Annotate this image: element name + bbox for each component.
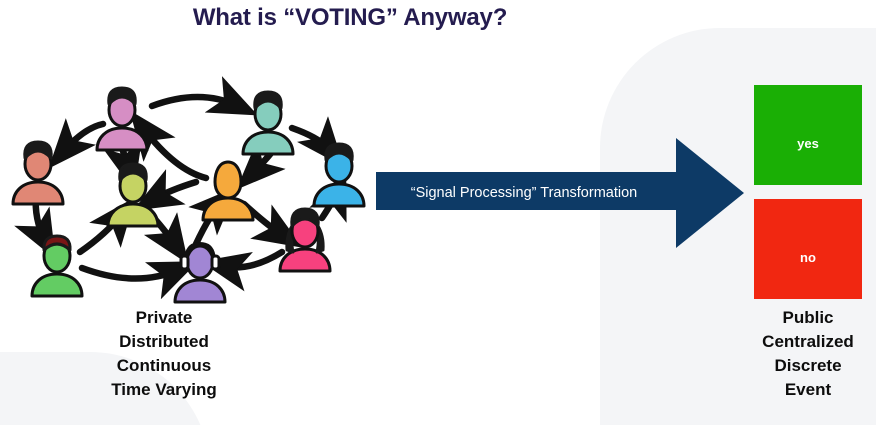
edge-orange-orchid	[143, 128, 206, 178]
transform-arrow: “Signal Processing” Transformation	[374, 136, 746, 250]
page-title: What is “VOTING” Anyway?	[0, 4, 700, 32]
right-caption-line-4: Event	[735, 378, 876, 402]
edge-green-purple	[82, 268, 178, 279]
person-salmon-icon	[13, 142, 63, 204]
result-box-no: no	[754, 199, 862, 299]
left-caption-line-2: Distributed	[55, 330, 273, 354]
left-caption: Private Distributed Continuous Time Vary…	[55, 306, 273, 402]
person-orchid-icon	[97, 88, 147, 150]
person-orange-icon	[203, 162, 253, 220]
person-green-icon	[32, 236, 82, 296]
person-teal-icon	[243, 92, 293, 154]
left-caption-line-4: Time Varying	[55, 378, 273, 402]
result-box-no-label: no	[800, 250, 816, 265]
person-blue-icon	[314, 144, 364, 206]
left-caption-line-3: Continuous	[55, 354, 273, 378]
right-caption-line-2: Centralized	[735, 330, 876, 354]
person-yellowgreen-icon	[108, 164, 158, 226]
right-caption-line-1: Public	[735, 306, 876, 330]
result-box-yes: yes	[754, 85, 862, 185]
result-box-yes-label: yes	[797, 136, 819, 151]
right-caption: Public Centralized Discrete Event	[735, 306, 876, 402]
left-caption-line-1: Private	[55, 306, 273, 330]
edge-orchid-teal	[152, 97, 238, 106]
slide-canvas: What is “VOTING” Anyway?	[0, 0, 876, 425]
social-network-graph	[0, 66, 380, 306]
transform-arrow-shape	[374, 136, 746, 250]
person-purple-icon	[175, 244, 225, 302]
edge-teal-blue	[292, 128, 330, 150]
edge-magenta-purple	[222, 252, 282, 267]
edge-orange-yellowgreen	[152, 182, 196, 200]
right-caption-line-3: Discrete	[735, 354, 876, 378]
